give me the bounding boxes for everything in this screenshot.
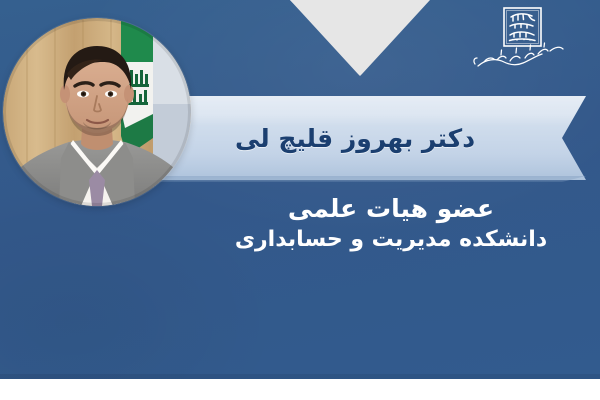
faculty-member-department: دانشکده مدیریت و حسابداری	[200, 226, 582, 255]
logo-square-mark	[504, 8, 541, 46]
faculty-member-details: عضو هیات علمی دانشکده مدیریت و حسابداری	[200, 192, 582, 255]
faculty-profile-card: دکتر بهروز قلیچ لی عضو هیات علمی دانشکده…	[0, 0, 600, 400]
shahid-beheshti-university-logo	[470, 4, 590, 86]
banner-bottom-edge	[0, 374, 600, 379]
faculty-member-portrait	[3, 18, 191, 206]
faculty-member-role: عضو هیات علمی	[200, 192, 582, 225]
faculty-member-name: دکتر بهروز قلیچ لی	[190, 98, 520, 178]
